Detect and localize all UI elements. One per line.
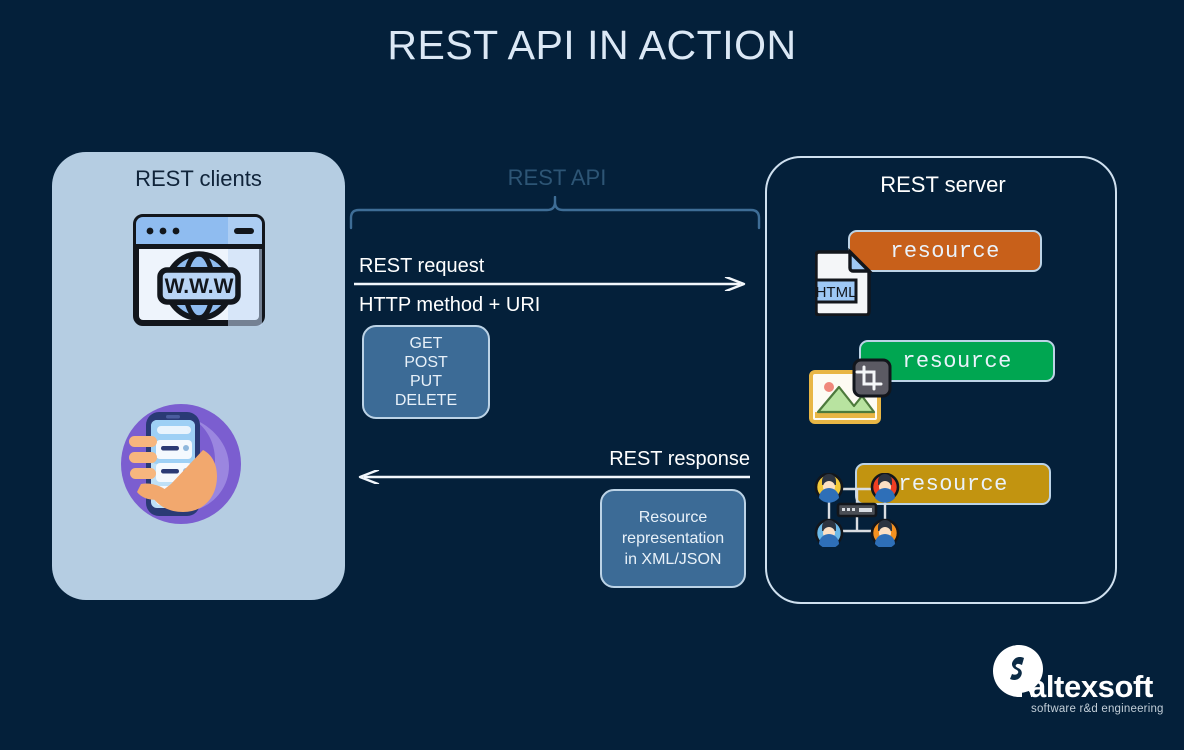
- repr-line-2: representation: [622, 528, 724, 549]
- http-method-put: PUT: [410, 372, 442, 391]
- hand-holding-smartphone-icon: [117, 400, 245, 528]
- altexsoft-logo-name: altexsoft: [1029, 669, 1153, 705]
- resource-label-image: resource: [902, 349, 1012, 374]
- rest-server-title: REST server: [767, 172, 1119, 198]
- html-file-icon-label: HTML: [816, 284, 857, 301]
- altexsoft-logo-tagline: software r&d engineering: [1031, 703, 1164, 715]
- repr-line-1: Resource: [639, 507, 707, 528]
- http-method-delete: DELETE: [395, 391, 457, 410]
- rest-response-arrow: [354, 470, 750, 484]
- http-method-get: GET: [410, 334, 443, 353]
- resource-label-html: resource: [890, 239, 1000, 264]
- rest-response-label: REST response: [400, 448, 750, 471]
- image-crop-icon: [808, 356, 894, 428]
- diagram-canvas: REST API IN ACTION REST clients W.W.W: [0, 0, 1184, 750]
- page-title: REST API IN ACTION: [0, 22, 1184, 69]
- rest-api-label: REST API: [452, 165, 662, 191]
- http-methods-box: GET POST PUT DELETE: [362, 325, 490, 419]
- rest-request-arrow: [354, 277, 750, 291]
- http-method-post: POST: [404, 353, 448, 372]
- svg-text:W.W.W: W.W.W: [165, 275, 234, 298]
- rest-request-label: REST request: [359, 255, 484, 278]
- resource-label-users: resource: [898, 472, 1008, 497]
- rest-clients-title: REST clients: [52, 166, 345, 192]
- rest-api-brace: [345, 196, 765, 230]
- html-file-icon: HTML: [815, 248, 873, 316]
- resource-representation-box: Resource representation in XML/JSON: [600, 489, 746, 588]
- altexsoft-logo: altexsoft software r&d engineering: [993, 645, 1168, 725]
- users-network-icon: [813, 473, 901, 547]
- http-method-uri-label: HTTP method + URI: [359, 294, 540, 317]
- repr-line-3: in XML/JSON: [625, 549, 722, 570]
- rest-server-panel: REST server resource HTML resource resou…: [765, 156, 1117, 604]
- browser-www-icon: W.W.W: [133, 214, 265, 326]
- rest-clients-panel: REST clients W.W.W: [52, 152, 345, 600]
- resource-bar-html: resource: [848, 230, 1042, 272]
